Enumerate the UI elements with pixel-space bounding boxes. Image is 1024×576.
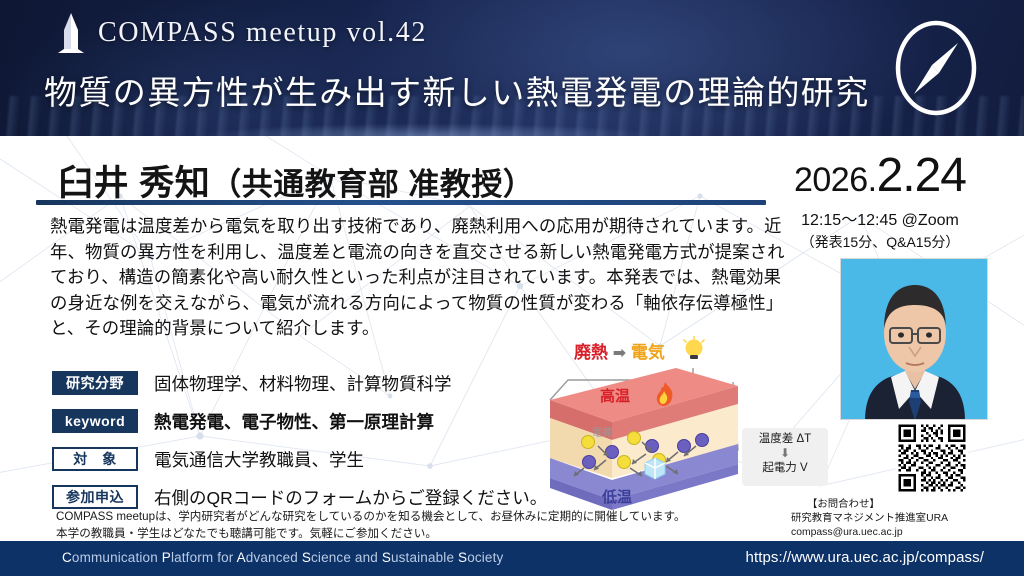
hot-side-label: 高温	[600, 385, 630, 406]
contact-email: compass@ura.uec.ac.jp	[791, 526, 1006, 540]
info-rows: 研究分野 固体物理学、材料物理、計算物質科学 keyword 熱電発電、電子物性…	[52, 368, 552, 520]
tag-keyword: keyword	[52, 409, 138, 433]
obelisk-icon	[58, 13, 84, 53]
value-registration: 右側のQRコードのフォームからご登録ください。	[154, 485, 547, 510]
info-row-keyword: keyword 熱電発電、電子物性、第一原理計算	[52, 406, 552, 436]
seminar-poster: COMPASS meetup vol.42 物質の異方性が生み出す新しい熱電発電…	[0, 0, 1024, 576]
info-row-field: 研究分野 固体物理学、材料物理、計算物質科学	[52, 368, 552, 398]
speaker-name-text: 臼井 秀知	[58, 164, 210, 203]
speaker-name: 臼井 秀知（共通教育部 准教授）	[58, 155, 534, 206]
charge-label: 電荷	[592, 424, 612, 439]
abstract-text: 熱電発電は温度差から電気を取り出す技術であり、廃熱利用への応用が期待されています…	[50, 214, 790, 342]
speaker-portrait	[840, 258, 988, 420]
title-divider	[36, 200, 766, 205]
qr-code-icon[interactable]	[896, 422, 968, 494]
portrait-photo	[841, 259, 988, 420]
thermoelectric-diagram: 廃熱 ➡ 電気	[528, 338, 828, 513]
event-duration: （発表15分、Q&A15分）	[760, 232, 1000, 252]
info-row-audience: 対 象 電気通信大学教職員、学生	[52, 444, 552, 474]
poster-footer: Communication Platform for Advanced Scie…	[0, 541, 1024, 576]
footer-url[interactable]: https://www.ura.uec.ac.jp/compass/	[746, 549, 985, 566]
poster-title: 物質の異方性が生み出す新しい熱電発電の理論的研究	[44, 66, 904, 114]
cold-side-label: 低温	[602, 486, 632, 507]
event-day: 2.24	[877, 149, 966, 202]
contact-heading: 【お問合わせ】	[807, 498, 1006, 512]
delta-t-label: 温度差 ΔT	[759, 433, 811, 445]
footer-tagline: Communication Platform for Advanced Scie…	[62, 550, 503, 565]
event-date: 2026.2.24	[760, 152, 1000, 200]
ice-cube-icon	[645, 458, 665, 479]
event-year: 2026.	[794, 161, 877, 199]
emf-label: 起電力 V	[762, 462, 807, 474]
arrow-down-icon: ⬇	[742, 447, 828, 461]
contact-block: 【お問合わせ】 研究教育マネジメント推進室URA compass@ura.uec…	[791, 498, 1006, 539]
poster-header: COMPASS meetup vol.42 物質の異方性が生み出す新しい熱電発電…	[0, 0, 1024, 136]
brand-title: COMPASS meetup vol.42	[98, 17, 427, 49]
compass-needle-icon	[886, 18, 986, 118]
value-keyword: 熱電発電、電子物性、第一原理計算	[154, 409, 434, 434]
contact-org: 研究教育マネジメント推進室URA	[791, 512, 1006, 526]
tag-registration: 参加申込	[52, 485, 138, 509]
delta-t-box: 温度差 ΔT ⬇ 起電力 V	[742, 428, 828, 486]
tag-audience: 対 象	[52, 447, 138, 471]
event-time: 12:15〜12:45 @Zoom	[760, 206, 1000, 230]
event-date-block: 2026.2.24 12:15〜12:45 @Zoom （発表15分、Q&A15…	[760, 152, 1000, 252]
speaker-affiliation: （共通教育部 准教授）	[210, 167, 534, 202]
tag-research-field: 研究分野	[52, 371, 138, 395]
qr-code-image[interactable]	[896, 422, 968, 494]
brand-row: COMPASS meetup vol.42	[58, 12, 427, 54]
value-research-field: 固体物理学、材料物理、計算物質科学	[154, 371, 452, 396]
value-audience: 電気通信大学教職員、学生	[154, 447, 364, 472]
